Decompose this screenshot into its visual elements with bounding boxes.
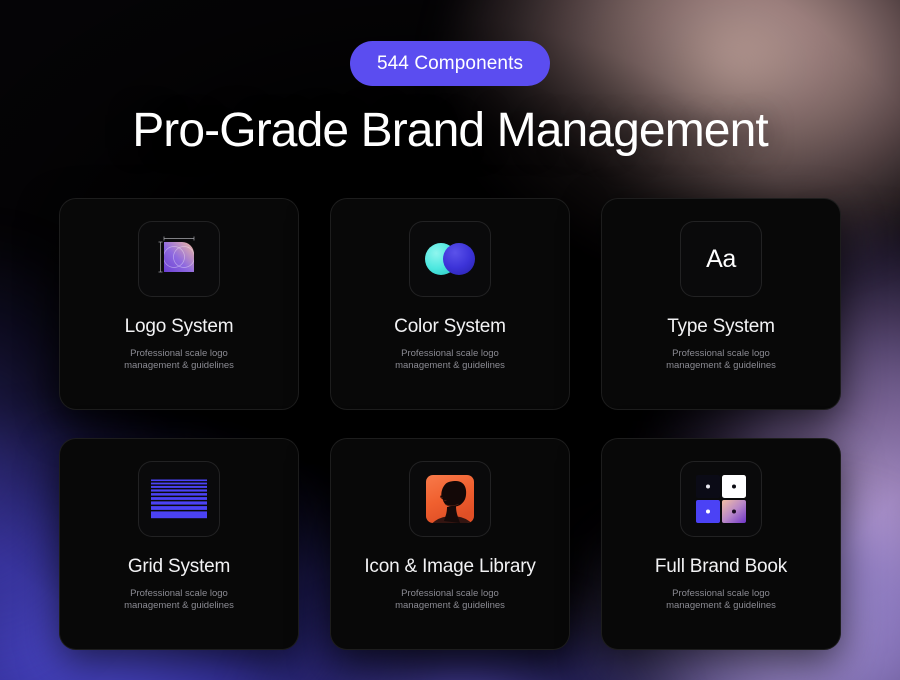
hero-section: 544 Components Pro-Grade Brand Managemen… — [0, 0, 900, 680]
card-subtitle: Professional scale logo management & gui… — [666, 348, 776, 371]
horizontal-stripes-grid-icon — [150, 478, 208, 520]
feature-card-full-brand-book[interactable]: Full Brand Book Professional scale logo … — [601, 438, 841, 650]
logo-mark-gradient-icon — [151, 233, 207, 285]
card-subtitle-line1: Professional scale logo — [672, 588, 770, 599]
card-subtitle-line1: Professional scale logo — [672, 348, 770, 359]
card-subtitle: Professional scale logo management & gui… — [395, 588, 505, 611]
card-subtitle: Professional scale logo management & gui… — [395, 348, 505, 371]
card-subtitle-line1: Professional scale logo — [130, 588, 228, 599]
card-subtitle-line2: management & guidelines — [666, 600, 776, 611]
feature-card-logo-system[interactable]: Logo System Professional scale logo mana… — [59, 198, 299, 410]
icon-tile — [409, 461, 491, 537]
card-title: Color System — [394, 316, 506, 338]
portrait-silhouette-icon — [422, 471, 478, 527]
page-title: Pro-Grade Brand Management — [132, 103, 768, 158]
card-subtitle-line1: Professional scale logo — [401, 588, 499, 599]
icon-tile — [409, 221, 491, 297]
feature-card-grid-system[interactable]: Grid System Professional scale logo mana… — [59, 438, 299, 650]
card-title: Logo System — [125, 316, 234, 338]
typography-aa-icon: Aa — [706, 245, 736, 274]
feature-card-type-system[interactable]: Aa Type System Professional scale logo m… — [601, 198, 841, 410]
components-count-badge[interactable]: 544 Components — [350, 41, 550, 86]
icon-tile — [138, 221, 220, 297]
card-subtitle-line2: management & guidelines — [395, 600, 505, 611]
icon-tile: Aa — [680, 221, 762, 297]
card-subtitle-line2: management & guidelines — [124, 360, 234, 371]
card-subtitle: Professional scale logo management & gui… — [124, 588, 234, 611]
feature-card-grid: Logo System Professional scale logo mana… — [59, 198, 841, 650]
feature-card-color-system[interactable]: Color System Professional scale logo man… — [330, 198, 570, 410]
card-subtitle-line2: management & guidelines — [124, 600, 234, 611]
card-title: Type System — [667, 316, 775, 338]
card-subtitle-line2: management & guidelines — [666, 360, 776, 371]
icon-tile — [138, 461, 220, 537]
icon-tile — [680, 461, 762, 537]
overlapping-color-circles-icon — [420, 237, 480, 281]
card-title: Full Brand Book — [655, 556, 787, 578]
card-title: Grid System — [128, 556, 230, 578]
card-subtitle: Professional scale logo management & gui… — [124, 348, 234, 371]
card-subtitle-line2: management & guidelines — [395, 360, 505, 371]
card-subtitle: Professional scale logo management & gui… — [666, 588, 776, 611]
card-subtitle-line1: Professional scale logo — [130, 348, 228, 359]
feature-card-icon-image-library[interactable]: Icon & Image Library Professional scale … — [330, 438, 570, 650]
card-title: Icon & Image Library — [364, 556, 535, 578]
four-swatch-grid-icon — [693, 473, 749, 525]
card-subtitle-line1: Professional scale logo — [401, 348, 499, 359]
